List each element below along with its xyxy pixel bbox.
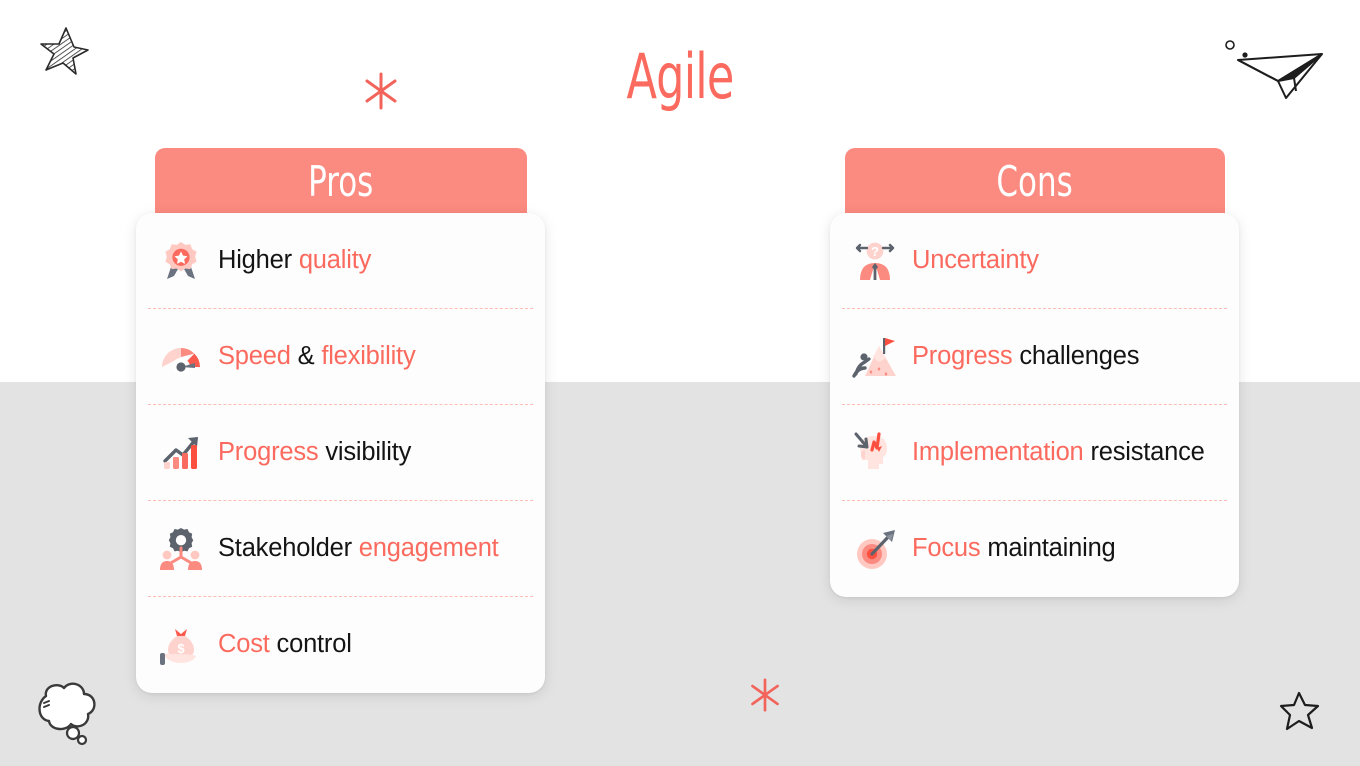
asterisk-doodle-icon [362,70,400,117]
star-outline-doodle-icon [1276,688,1322,739]
list-item-label: Implementation resistance [912,438,1205,467]
list-item-label: Progress challenges [912,342,1139,371]
list-item-label: Cost control [218,630,352,659]
list-item[interactable]: $ Cost control [148,597,533,693]
pros-column-header: Pros [155,148,527,216]
label-part: Progress [218,438,325,466]
list-item[interactable]: Progress challenges [842,309,1227,405]
thought-cloud-doodle-icon [28,676,104,753]
list-item[interactable]: Focus maintaining [842,501,1227,597]
paper-plane-doodle-icon [1234,48,1326,109]
star-hatched-doodle-icon [36,22,92,83]
pros-header-label: Pros [308,161,373,203]
award-ribbon-icon [158,238,204,284]
svg-text:$: $ [177,641,185,656]
cons-column-header: Cons [845,148,1225,216]
label-part: Implementation [912,438,1090,466]
label-part: Uncertainty [912,246,1039,274]
money-bag-hand-icon: $ [158,622,204,668]
list-item[interactable]: ? Uncertainty [842,213,1227,309]
label-part: Cost [218,630,277,658]
list-item-label: Stakeholder engagement [218,534,499,563]
label-part: Speed [218,342,298,370]
label-part: Progress [912,342,1019,370]
list-item-label: Uncertainty [912,246,1039,275]
uncertain-person-icon: ? [852,238,898,284]
label-part: Stakeholder [218,534,359,562]
slide-canvas: Agile [0,0,1360,766]
list-item-label: Focus maintaining [912,534,1116,563]
list-item[interactable]: Stakeholder engagement [148,501,533,597]
label-part: resistance [1090,438,1204,466]
slide-title: Agile [136,46,1224,108]
list-item[interactable]: Higher quality [148,213,533,309]
label-part: quality [299,246,371,274]
list-item[interactable]: Progress visibility [148,405,533,501]
list-item-label: Higher quality [218,246,371,275]
cons-header-label: Cons [997,161,1073,203]
list-item[interactable]: Implementation resistance [842,405,1227,501]
list-item-label: Progress visibility [218,438,411,467]
target-dart-icon [852,526,898,572]
asterisk-doodle-icon [748,676,782,719]
label-part: & [298,342,322,370]
label-part: flexibility [321,342,415,370]
label-part: engagement [359,534,499,562]
list-item-label: Speed & flexibility [218,342,416,371]
label-part: challenges [1019,342,1139,370]
growth-chart-icon [158,430,204,476]
label-part: Higher [218,246,299,274]
svg-text:?: ? [871,244,879,259]
speedometer-icon [158,334,204,380]
head-arrow-resistance-icon [852,430,898,476]
label-part: Focus [912,534,987,562]
cons-card: ? Uncertainty [830,213,1239,597]
mountain-flag-climb-icon [852,334,898,380]
pros-card: Higher quality Speed & fle [136,213,545,693]
label-part: control [277,630,352,658]
label-part: visibility [325,438,411,466]
stakeholder-group-icon [158,526,204,572]
list-item[interactable]: Speed & flexibility [148,309,533,405]
label-part: maintaining [987,534,1115,562]
